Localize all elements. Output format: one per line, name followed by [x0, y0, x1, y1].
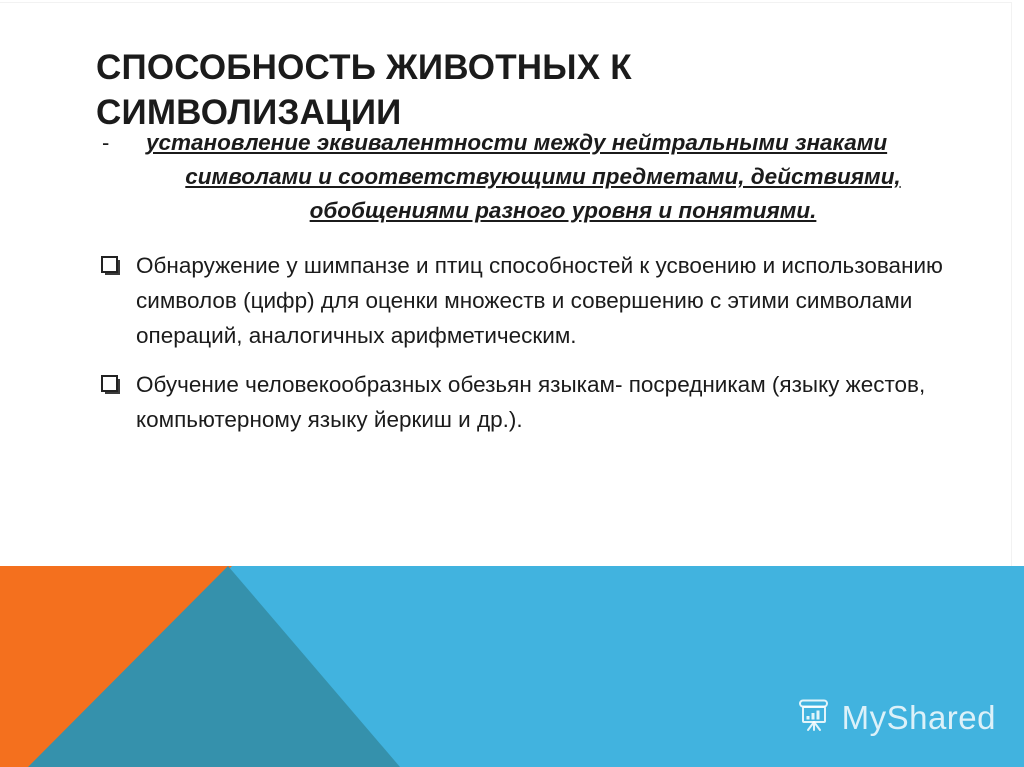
bullet-item-1-line-2: символами и соответствующими предметами,…	[140, 160, 946, 194]
dash-bullet-icon: -	[102, 126, 109, 160]
square-bullet-icon	[101, 375, 118, 392]
bullet-item-3-text: Обучение человекообразных обезьян языкам…	[136, 367, 956, 437]
presentation-chart-icon	[794, 696, 832, 739]
bottom-banner: MyShared	[0, 566, 1024, 767]
slide-title: СПОСОБНОСТЬ ЖИВОТНЫХ К СИМВОЛИЗАЦИИ	[96, 45, 896, 135]
bullet-item-2: Обнаружение у шимпанзе и птиц способност…	[96, 248, 956, 353]
slide-body: - установление эквивалентности между ней…	[96, 126, 956, 437]
bullet-item-2-text: Обнаружение у шимпанзе и птиц способност…	[136, 248, 956, 353]
bullet-item-3: Обучение человекообразных обезьян языкам…	[96, 367, 956, 437]
square-bullet-icon	[101, 256, 118, 273]
bullet-item-1-line-1: установление эквивалентности между нейтр…	[140, 126, 946, 160]
myshared-logo: MyShared	[794, 696, 996, 739]
myshared-logo-text: MyShared	[842, 701, 996, 734]
bullet-item-1: - установление эквивалентности между ней…	[96, 126, 956, 228]
slide-canvas: СПОСОБНОСТЬ ЖИВОТНЫХ К СИМВОЛИЗАЦИИ - ус…	[0, 0, 1024, 767]
bullet-item-1-line-3: обобщениями разного уровня и понятиями.	[140, 194, 946, 228]
